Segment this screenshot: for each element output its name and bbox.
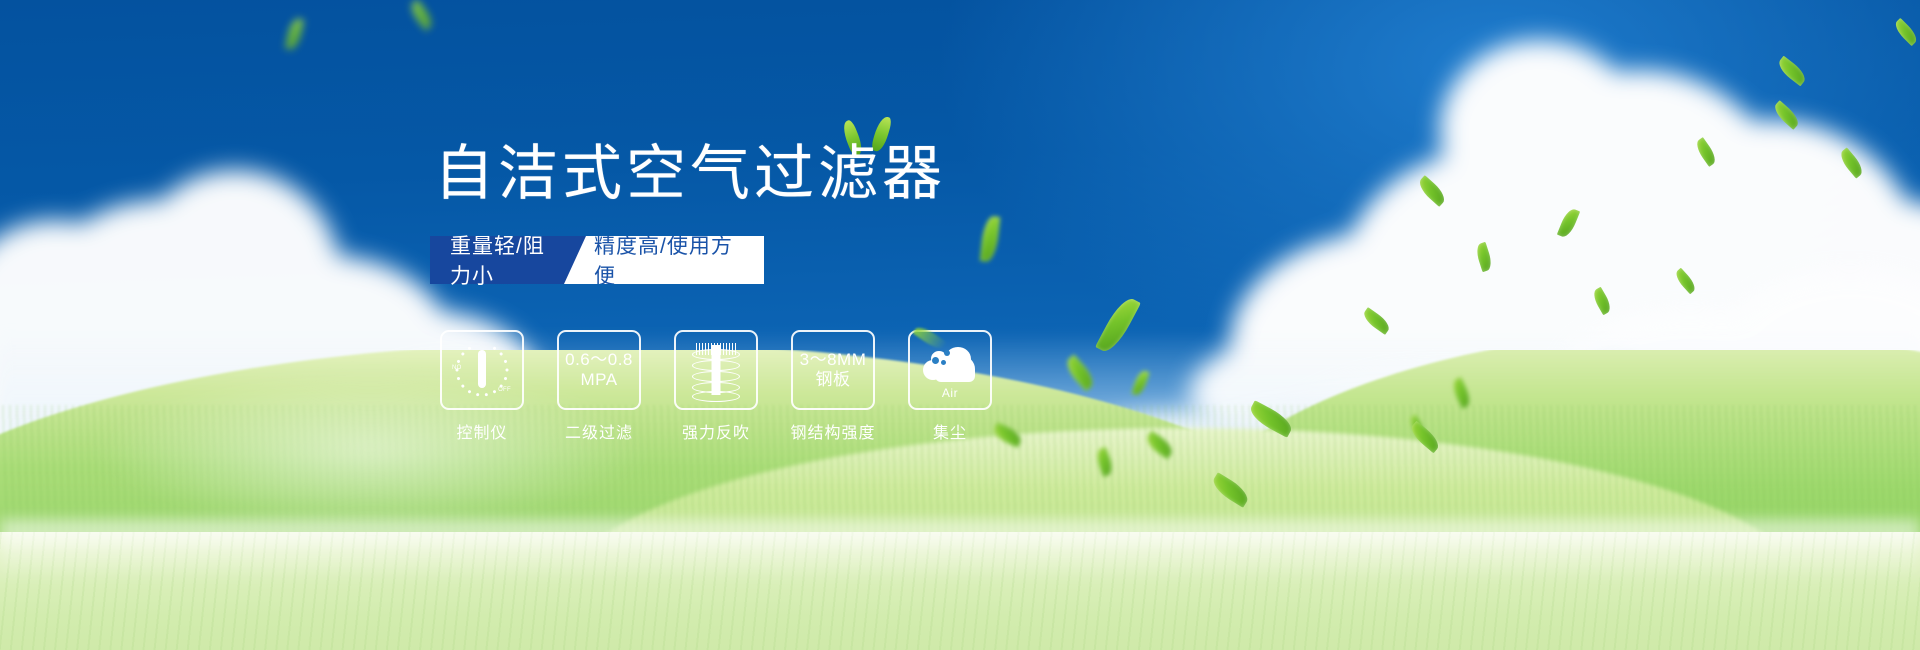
feature-list: NO OFF 控制仪 0.6～0.8 MPA 二级过滤 <box>440 330 992 443</box>
feature-label: 钢结构强度 <box>791 419 876 443</box>
feature-icon-box: Air <box>908 330 992 410</box>
air-cloud-icon: Air <box>919 342 981 398</box>
gauge-icon: NO OFF <box>453 341 511 399</box>
cartridge-disc <box>692 360 740 371</box>
gauge-label-off: OFF <box>498 387 511 393</box>
pressure-text-icon: 0.6～0.8 MPA <box>565 350 633 389</box>
feature-item-dust-collection[interactable]: Air 集尘 <box>908 330 992 443</box>
feature-item-steel-strength[interactable]: 3～8MM 钢板 钢结构强度 <box>791 330 875 443</box>
feature-icon-box <box>674 330 758 410</box>
subtitle-tabs: 重量轻/阻力小 精度高/使用方便 <box>430 236 764 284</box>
feature-label: 二级过滤 <box>565 419 633 443</box>
feature-label: 强力反吹 <box>682 419 750 443</box>
dust-particle <box>941 360 946 365</box>
air-label: Air <box>919 386 981 400</box>
tab-precision-convenience[interactable]: 精度高/使用方便 <box>564 236 764 284</box>
feature-icon-box: NO OFF <box>440 330 524 410</box>
dust-particle <box>944 350 950 356</box>
filter-cartridge-icon <box>689 341 743 399</box>
feature-icon-box: 0.6～0.8 MPA <box>557 330 641 410</box>
feature-item-two-stage-filter[interactable]: 0.6～0.8 MPA 二级过滤 <box>557 330 641 443</box>
feature-icon-box: 3～8MM 钢板 <box>791 330 875 410</box>
dust-particle <box>932 357 939 364</box>
gauge-needle <box>478 350 486 388</box>
feature-item-controller[interactable]: NO OFF 控制仪 <box>440 330 524 443</box>
steel-plate-text-icon: 3～8MM 钢板 <box>800 350 867 389</box>
tab-weight-resistance[interactable]: 重量轻/阻力小 <box>430 236 586 284</box>
feature-label: 集尘 <box>933 419 967 443</box>
feature-label: 控制仪 <box>456 419 507 443</box>
cartridge-disc <box>692 391 740 402</box>
product-banner: 自洁式空气过滤器 重量轻/阻力小 精度高/使用方便 <box>0 0 1920 650</box>
page-title: 自洁式空气过滤器 <box>434 144 946 204</box>
cartridge-disc <box>692 371 740 382</box>
gauge-label-no: NO <box>452 365 462 371</box>
cartridge-disc <box>692 349 740 360</box>
feature-item-back-blow[interactable]: 强力反吹 <box>674 330 758 443</box>
